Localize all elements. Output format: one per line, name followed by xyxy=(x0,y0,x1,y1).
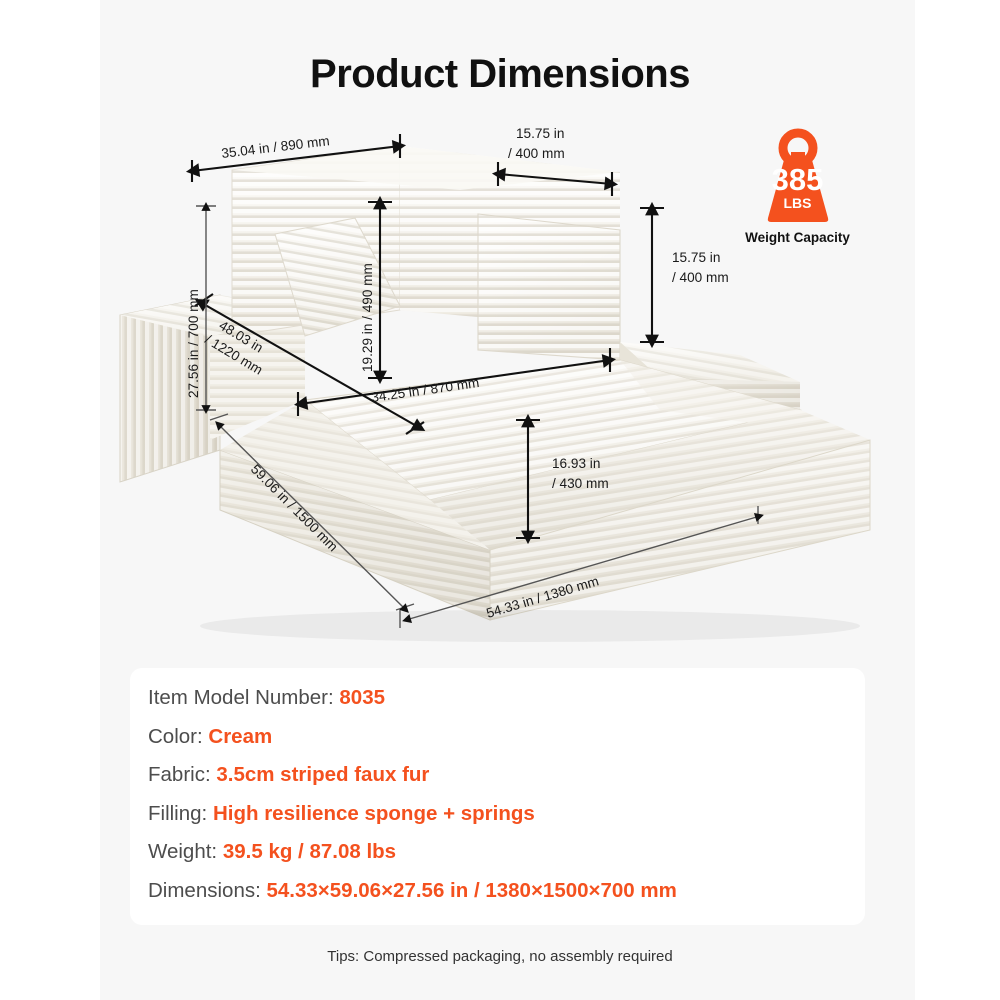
spec-row: Weight: 39.5 kg / 87.08 lbs xyxy=(148,842,865,863)
dim-pillow-width-l2: / 400 mm xyxy=(508,146,565,161)
dim-backrest-height: 19.29 in / 490 mm xyxy=(360,263,375,372)
spec-value: 54.33×59.06×27.56 in / 1380×1500×700 mm xyxy=(267,879,677,902)
spec-value: 8035 xyxy=(339,686,385,709)
spec-value: 39.5 kg / 87.08 lbs xyxy=(223,840,396,863)
spec-row: Color: Cream xyxy=(148,727,865,748)
dim-overall-height: 27.56 in / 700 mm xyxy=(186,289,201,398)
spec-row: Fabric: 3.5cm striped faux fur xyxy=(148,765,865,786)
spec-label: Item Model Number: xyxy=(148,686,334,709)
specifications-list: Item Model Number: 8035 Color: Cream Fab… xyxy=(130,668,865,901)
dim-pillow-height-l1: 15.75 in xyxy=(672,250,720,265)
spec-label: Weight: xyxy=(148,840,217,863)
spec-value: High resilience sponge + springs xyxy=(213,802,535,825)
spec-row: Dimensions: 54.33×59.06×27.56 in / 1380×… xyxy=(148,881,865,902)
product-dimension-diagram: 35.04 in / 890 mm 19.29 in / 490 mm 15.7… xyxy=(100,110,915,670)
dim-seat-height-l2: / 430 mm xyxy=(552,476,609,491)
page-title: Product Dimensions xyxy=(0,52,1000,97)
spec-row: Filling: High resilience sponge + spring… xyxy=(148,804,865,825)
dim-pillow-height-l2: / 400 mm xyxy=(672,270,729,285)
spec-label: Fabric: xyxy=(148,763,211,786)
spec-label: Filling: xyxy=(148,802,207,825)
dim-seat-height-l1: 16.93 in xyxy=(552,456,600,471)
spec-value: 3.5cm striped faux fur xyxy=(216,763,429,786)
tips-text: Tips: Compressed packaging, no assembly … xyxy=(0,948,1000,965)
spec-label: Dimensions: xyxy=(148,879,261,902)
sofa-illustration xyxy=(120,146,870,642)
infographic-root: Product Dimensions 385 LBS Weight Capaci… xyxy=(0,0,1000,1000)
spec-value: Cream xyxy=(208,725,272,748)
dim-pillow-width-l1: 15.75 in xyxy=(516,126,564,141)
spec-row: Item Model Number: 8035 xyxy=(148,688,865,709)
specifications-card: Item Model Number: 8035 Color: Cream Fab… xyxy=(130,668,865,925)
spec-label: Color: xyxy=(148,725,203,748)
